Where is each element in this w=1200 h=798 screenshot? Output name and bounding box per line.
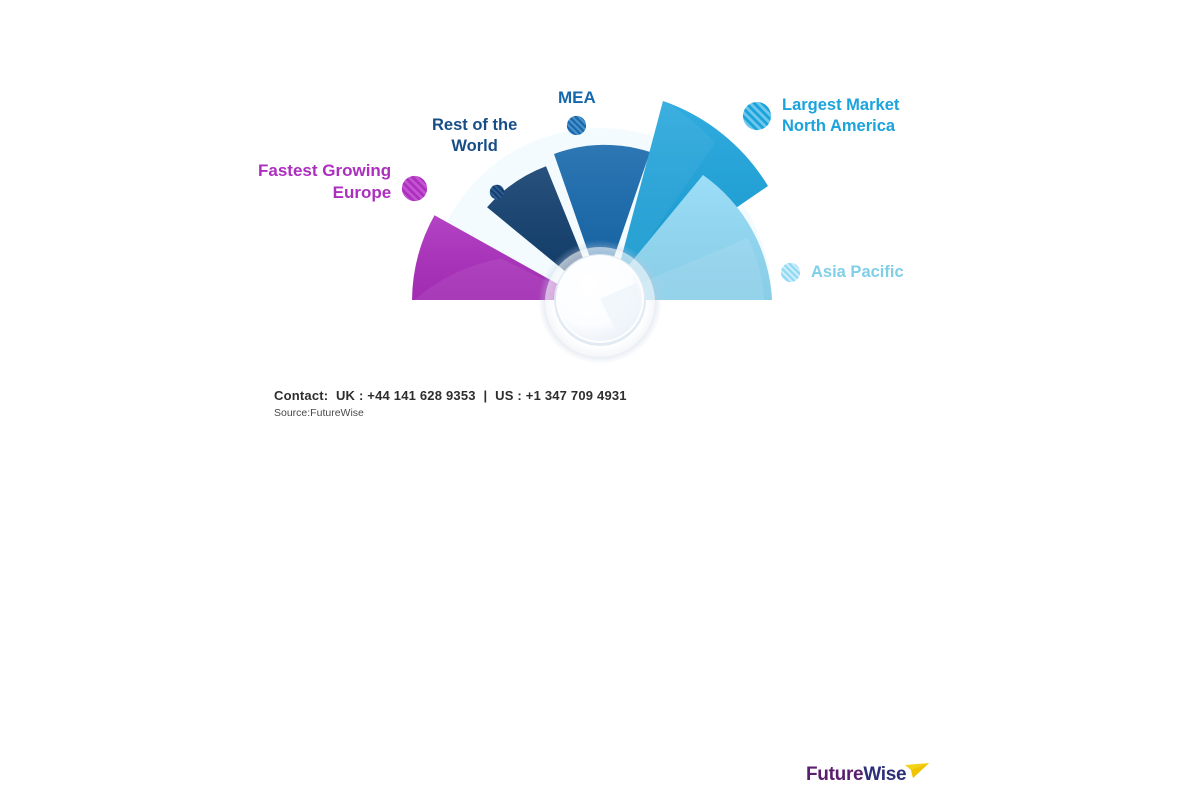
source-line: Source:FutureWise — [274, 407, 364, 419]
callout-north-america-line2: North America — [782, 116, 899, 137]
chart-svg — [0, 0, 1200, 380]
hatched-circle-marker-europe — [401, 175, 428, 202]
yellow-swoosh-icon — [904, 762, 930, 782]
callout-rest-of-the-world-line1: Rest of the — [432, 115, 517, 136]
callout-europe-line2: Europe — [258, 182, 391, 204]
callout-europe-line1: Fastest Growing — [258, 160, 391, 182]
us-phone[interactable]: +1 347 709 4931 — [526, 388, 627, 403]
callout-europe-text: Fastest Growing Europe — [258, 160, 391, 204]
hatched-circle-marker-asia-pacific — [780, 262, 801, 283]
hatched-circle-marker-mea — [566, 115, 587, 136]
chart-center-hub — [538, 240, 662, 364]
callout-mea-text: MEA — [558, 87, 596, 109]
infographic-canvas: Fastest Growing Europe Rest of the World… — [0, 0, 1200, 428]
hatched-circle-marker-north-america — [742, 101, 772, 131]
contact-label: Contact: — [274, 388, 328, 403]
uk-phone[interactable]: +44 141 628 9353 — [367, 388, 475, 403]
logo-word-first: Future — [806, 764, 863, 785]
callout-rest-of-the-world-line2: World — [432, 136, 517, 157]
callout-europe[interactable]: Fastest Growing Europe — [258, 160, 428, 204]
callout-north-america-line1: Largest Market — [782, 95, 899, 116]
half-donut-chart: Fastest Growing Europe Rest of the World… — [0, 0, 1200, 380]
uk-label: UK : — [336, 388, 364, 403]
callout-north-america[interactable]: Largest Market North America — [742, 95, 899, 137]
contact-line: Contact: UK : +44 141 628 9353 | US : +1… — [274, 388, 627, 403]
logo-wordmark: FutureWise — [806, 764, 906, 786]
footer: Contact: UK : +44 141 628 9353 | US : +1… — [0, 380, 1200, 428]
callout-mea[interactable]: MEA — [558, 87, 596, 136]
callout-north-america-text: Largest Market North America — [782, 95, 899, 137]
callout-asia-pacific-line1: Asia Pacific — [811, 262, 904, 283]
logo-word-second: Wise — [863, 764, 906, 785]
callout-rest-of-the-world-text: Rest of the World — [432, 115, 517, 157]
contact-separator: | — [480, 388, 492, 403]
callout-mea-line1: MEA — [558, 87, 596, 109]
hatched-circle-marker-rest-of-the-world — [489, 184, 505, 200]
callout-asia-pacific-text: Asia Pacific — [811, 262, 904, 283]
callout-rest-of-the-world[interactable]: Rest of the World — [432, 115, 517, 157]
us-label: US : — [495, 388, 522, 403]
futurewise-logo[interactable]: FutureWise — [806, 764, 936, 798]
callout-asia-pacific[interactable]: Asia Pacific — [780, 262, 904, 283]
